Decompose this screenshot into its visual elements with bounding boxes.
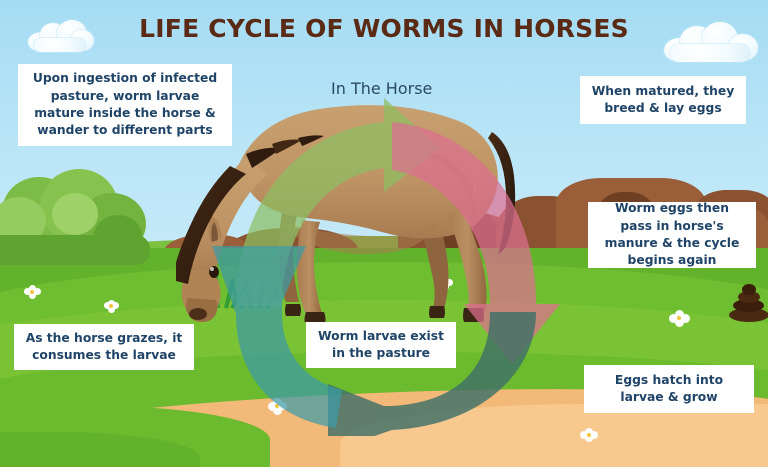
in-the-horse-label: In The Horse	[331, 79, 432, 98]
step-text-larvae-in-pasture: Worm larvae exist in the pasture	[315, 328, 447, 363]
page-title: LIFE CYCLE OF WORMS IN HORSES	[0, 14, 768, 43]
step-box-ingestion: Upon ingestion of infected pasture, worm…	[18, 64, 232, 146]
step-box-larvae-in-pasture: Worm larvae exist in the pasture	[306, 322, 456, 368]
step-box-eggs-in-manure: Worm eggs then pass in horse's manure & …	[588, 202, 756, 268]
step-text-eggs-hatch: Eggs hatch into larvae & grow	[593, 372, 745, 407]
step-text-eggs-in-manure: Worm eggs then pass in horse's manure & …	[597, 200, 747, 270]
daisy-2	[104, 300, 120, 314]
manure-pile	[729, 284, 768, 320]
bush-left	[0, 163, 154, 255]
step-text-ingestion: Upon ingestion of infected pasture, worm…	[27, 70, 223, 140]
step-text-grazing: As the horse grazes, it consumes the lar…	[23, 330, 185, 365]
step-box-maturation: When matured, they breed & lay eggs	[580, 76, 746, 124]
life-cycle-arrow-ring	[178, 96, 598, 436]
step-box-grazing: As the horse grazes, it consumes the lar…	[14, 324, 194, 370]
daisy-5	[669, 310, 691, 328]
step-text-maturation: When matured, they breed & lay eggs	[589, 83, 737, 118]
daisy-1	[24, 285, 42, 301]
step-box-eggs-hatch: Eggs hatch into larvae & grow	[584, 365, 754, 413]
infographic-canvas: LIFE CYCLE OF WORMS IN HORSES In The Hor…	[0, 0, 768, 467]
